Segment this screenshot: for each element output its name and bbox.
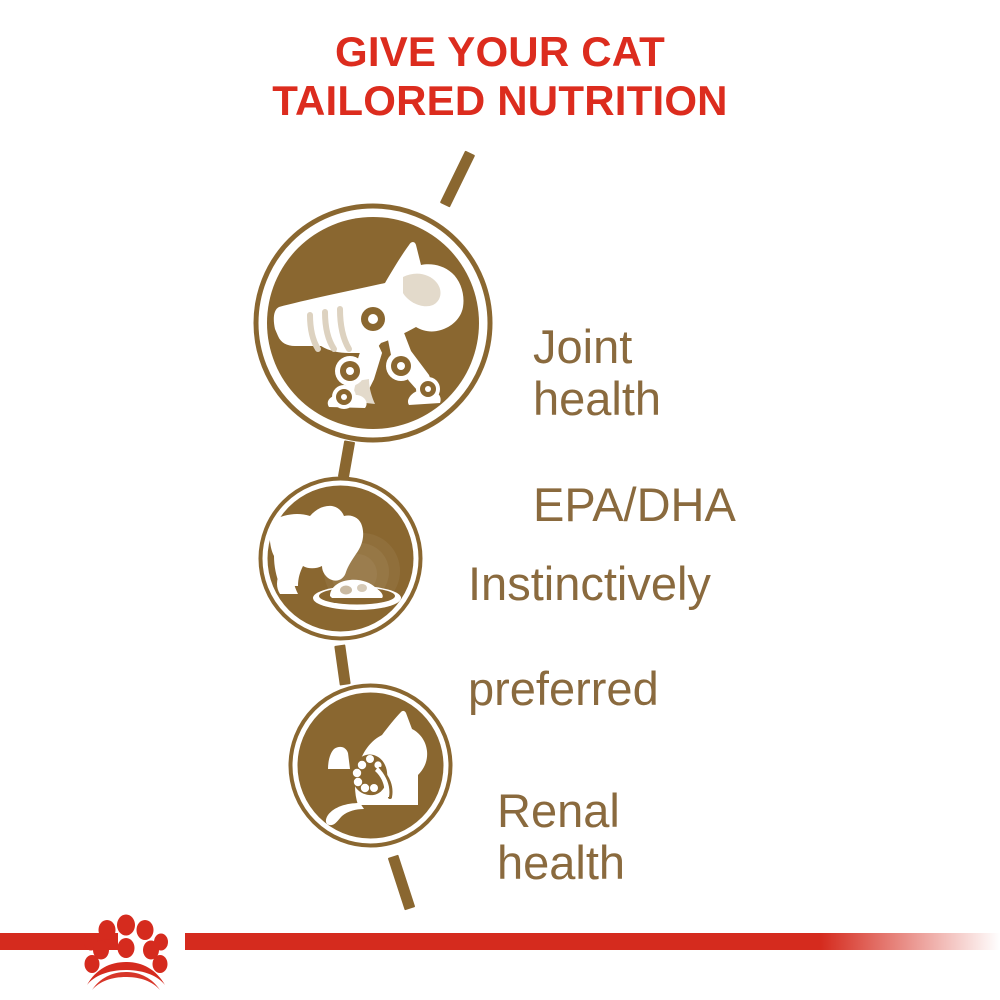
headline-line-1: GIVE YOUR CAT [0, 28, 1000, 77]
headline-line-2: TAILORED NUTRITION [0, 77, 1000, 126]
feature-label-line-1: Renal health [497, 785, 625, 890]
cat-skeleton-joints-icon [253, 203, 493, 443]
feature-label-line-1: Instinctively [468, 558, 711, 611]
brand-bar-right-segment [185, 933, 1000, 950]
cat-eating-bowl-icon [258, 476, 423, 641]
royal-canin-crown-logo [70, 912, 182, 990]
cat-kidney-renal-icon [288, 683, 453, 848]
feature-label-line-1: Joint health [533, 321, 736, 426]
connector-dash [388, 855, 415, 911]
feature-label-renal-health: Renal health [497, 732, 625, 943]
connector-dash [334, 644, 350, 685]
feature-label-line-2: preferred [468, 663, 711, 716]
connector-dash [440, 151, 475, 208]
feature-label-instinctively-preferred: Instinctively preferred [468, 505, 711, 768]
page-title: GIVE YOUR CAT TAILORED NUTRITION [0, 28, 1000, 125]
promo-panel: GIVE YOUR CAT TAILORED NUTRITION [0, 0, 1000, 1000]
connector-dash [338, 440, 355, 478]
